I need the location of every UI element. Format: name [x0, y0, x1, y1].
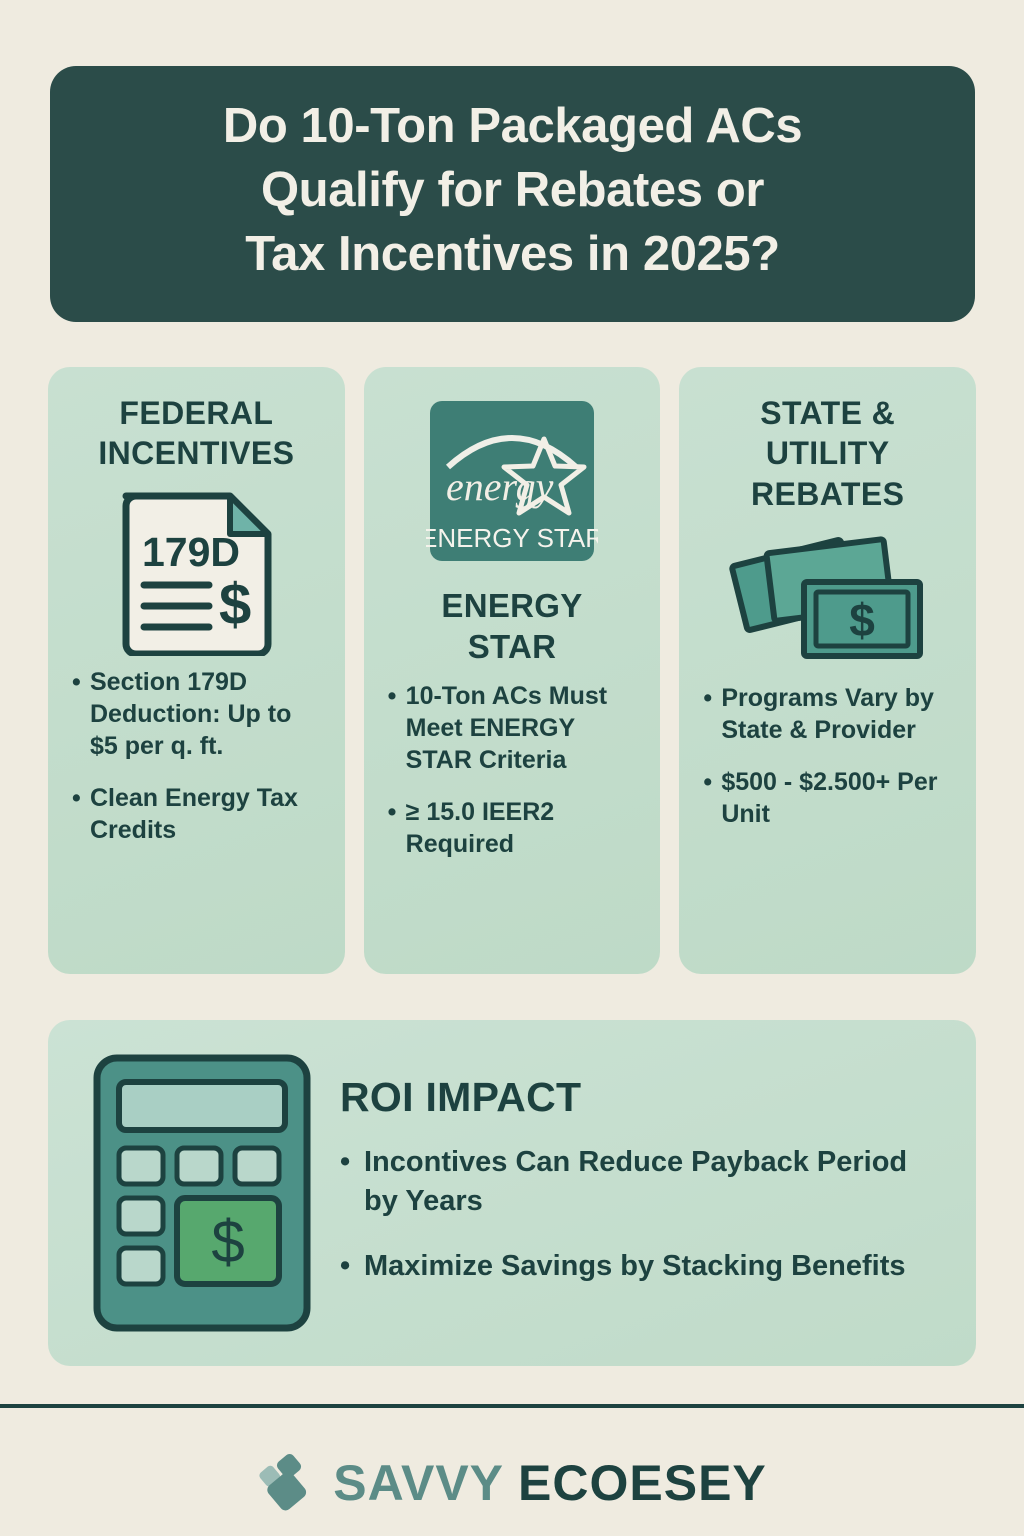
bullet-text: Maximize Savings by Stacking Benefits — [364, 1247, 946, 1286]
title-line-3: Tax Incentives in 2025? — [223, 223, 802, 287]
svg-text:179D: 179D — [142, 529, 240, 575]
brand-wordmark: SAVVY ECOESEY — [333, 1454, 767, 1512]
bullet-dot-icon: • — [72, 666, 90, 762]
svg-text:$: $ — [219, 572, 251, 637]
bullet-text: $500 - $2.500+ Per Unit — [721, 766, 954, 830]
list-item: • 10-Ton ACs Must Meet ENERGY STAR Crite… — [388, 680, 639, 776]
list-item: • Maximize Savings by Stacking Benefits — [340, 1247, 946, 1286]
card-energy-star-title-line-1: ENERGY — [441, 587, 582, 624]
list-item: • Section 179D Deduction: Up to $5 per q… — [72, 666, 323, 762]
card-energy-star-title: ENERGY STAR — [386, 585, 639, 668]
bullet-text: Programs Vary by State & Provider — [721, 682, 954, 746]
bullet-dot-icon: • — [703, 766, 721, 830]
card-federal-incentives: FEDERAL INCENTIVES 179D $ • Section 179D — [48, 367, 345, 974]
card-rebates-title-line-1: STATE & — [760, 395, 895, 431]
card-federal-title-line-2: INCENTIVES — [98, 435, 294, 471]
list-item: • Clean Energy Tax Credits — [72, 782, 323, 846]
card-rebates-bullets: • Programs Vary by State & Provider • $5… — [701, 682, 954, 850]
title-banner: Do 10-Ton Packaged ACs Qualify for Rebat… — [50, 66, 975, 322]
bullet-text: 10-Ton ACs Must Meet ENERGY STAR Criteri… — [406, 680, 639, 776]
card-federal-title: FEDERAL INCENTIVES — [70, 393, 323, 474]
savvy-diamond-logo — [257, 1452, 313, 1514]
bullet-dot-icon: • — [388, 680, 406, 776]
svg-text:energy: energy — [446, 464, 554, 509]
list-item: • ≥ 15.0 IEER2 Required — [388, 796, 639, 860]
page-title: Do 10-Ton Packaged ACs Qualify for Rebat… — [223, 95, 802, 286]
card-federal-title-line-1: FEDERAL — [119, 395, 273, 431]
bullet-dot-icon: • — [72, 782, 90, 846]
list-item: • Programs Vary by State & Provider — [703, 682, 954, 746]
card-energy-star-bullets: • 10-Ton ACs Must Meet ENERGY STAR Crite… — [386, 680, 639, 880]
infographic-page: Do 10-Ton Packaged ACs Qualify for Rebat… — [0, 0, 1024, 1536]
svg-text:$: $ — [849, 594, 875, 646]
bullet-dot-icon: • — [340, 1247, 364, 1286]
card-rebates-title-line-2: UTILITY — [766, 435, 890, 471]
card-state-utility-rebates: STATE & UTILITY REBATES $ • — [679, 367, 976, 974]
brand-ecoesey: ECOESEY — [518, 1454, 767, 1512]
card-rebates-title-line-3: REBATES — [751, 476, 904, 512]
document-179d-icon-wrap: 179D $ — [70, 484, 323, 656]
roi-title: ROI IMPACT — [340, 1074, 946, 1121]
card-federal-bullets: • Section 179D Deduction: Up to $5 per q… — [70, 666, 323, 866]
banknotes-icon-wrap: $ — [701, 524, 954, 672]
card-energy-star: energy ENERGY STAR ENERGY STAR • 10-Ton … — [364, 367, 661, 974]
brand-savvy: SAVVY — [333, 1454, 504, 1512]
card-rebates-title: STATE & UTILITY REBATES — [701, 393, 954, 514]
list-item: • Incontives Can Reduce Payback Period b… — [340, 1143, 946, 1221]
energy-star-band-label: ENERGY STAR — [426, 523, 598, 553]
title-line-2: Qualify for Rebates or — [223, 159, 802, 223]
calculator-icon-wrap: $ — [78, 1052, 326, 1334]
calculator-icon: $ — [91, 1052, 313, 1334]
banknotes-icon: $ — [728, 524, 928, 672]
svg-text:$: $ — [211, 1208, 244, 1275]
cards-row: FEDERAL INCENTIVES 179D $ • Section 179D — [48, 367, 976, 974]
roi-impact-panel: $ ROI IMPACT • Incontives Can Reduce Pay… — [48, 1020, 976, 1366]
roi-body: ROI IMPACT • Incontives Can Reduce Payba… — [326, 1074, 946, 1312]
list-item: • $500 - $2.500+ Per Unit — [703, 766, 954, 830]
footer-divider — [0, 1404, 1024, 1408]
bullet-text: ≥ 15.0 IEER2 Required — [406, 796, 639, 860]
bullet-dot-icon: • — [340, 1143, 364, 1221]
energy-star-logo: energy ENERGY STAR — [426, 395, 598, 567]
bullet-dot-icon: • — [703, 682, 721, 746]
bullet-dot-icon: • — [388, 796, 406, 860]
energy-star-logo-wrap: energy ENERGY STAR — [386, 395, 639, 567]
card-energy-star-title-line-2: STAR — [468, 628, 557, 665]
bullet-text: Incontives Can Reduce Payback Period by … — [364, 1143, 946, 1221]
footer: SAVVY ECOESEY — [0, 1430, 1024, 1536]
title-line-1: Do 10-Ton Packaged ACs — [223, 95, 802, 159]
document-179d-icon: 179D $ — [116, 484, 276, 656]
bullet-text: Section 179D Deduction: Up to $5 per q. … — [90, 666, 323, 762]
bullet-text: Clean Energy Tax Credits — [90, 782, 323, 846]
